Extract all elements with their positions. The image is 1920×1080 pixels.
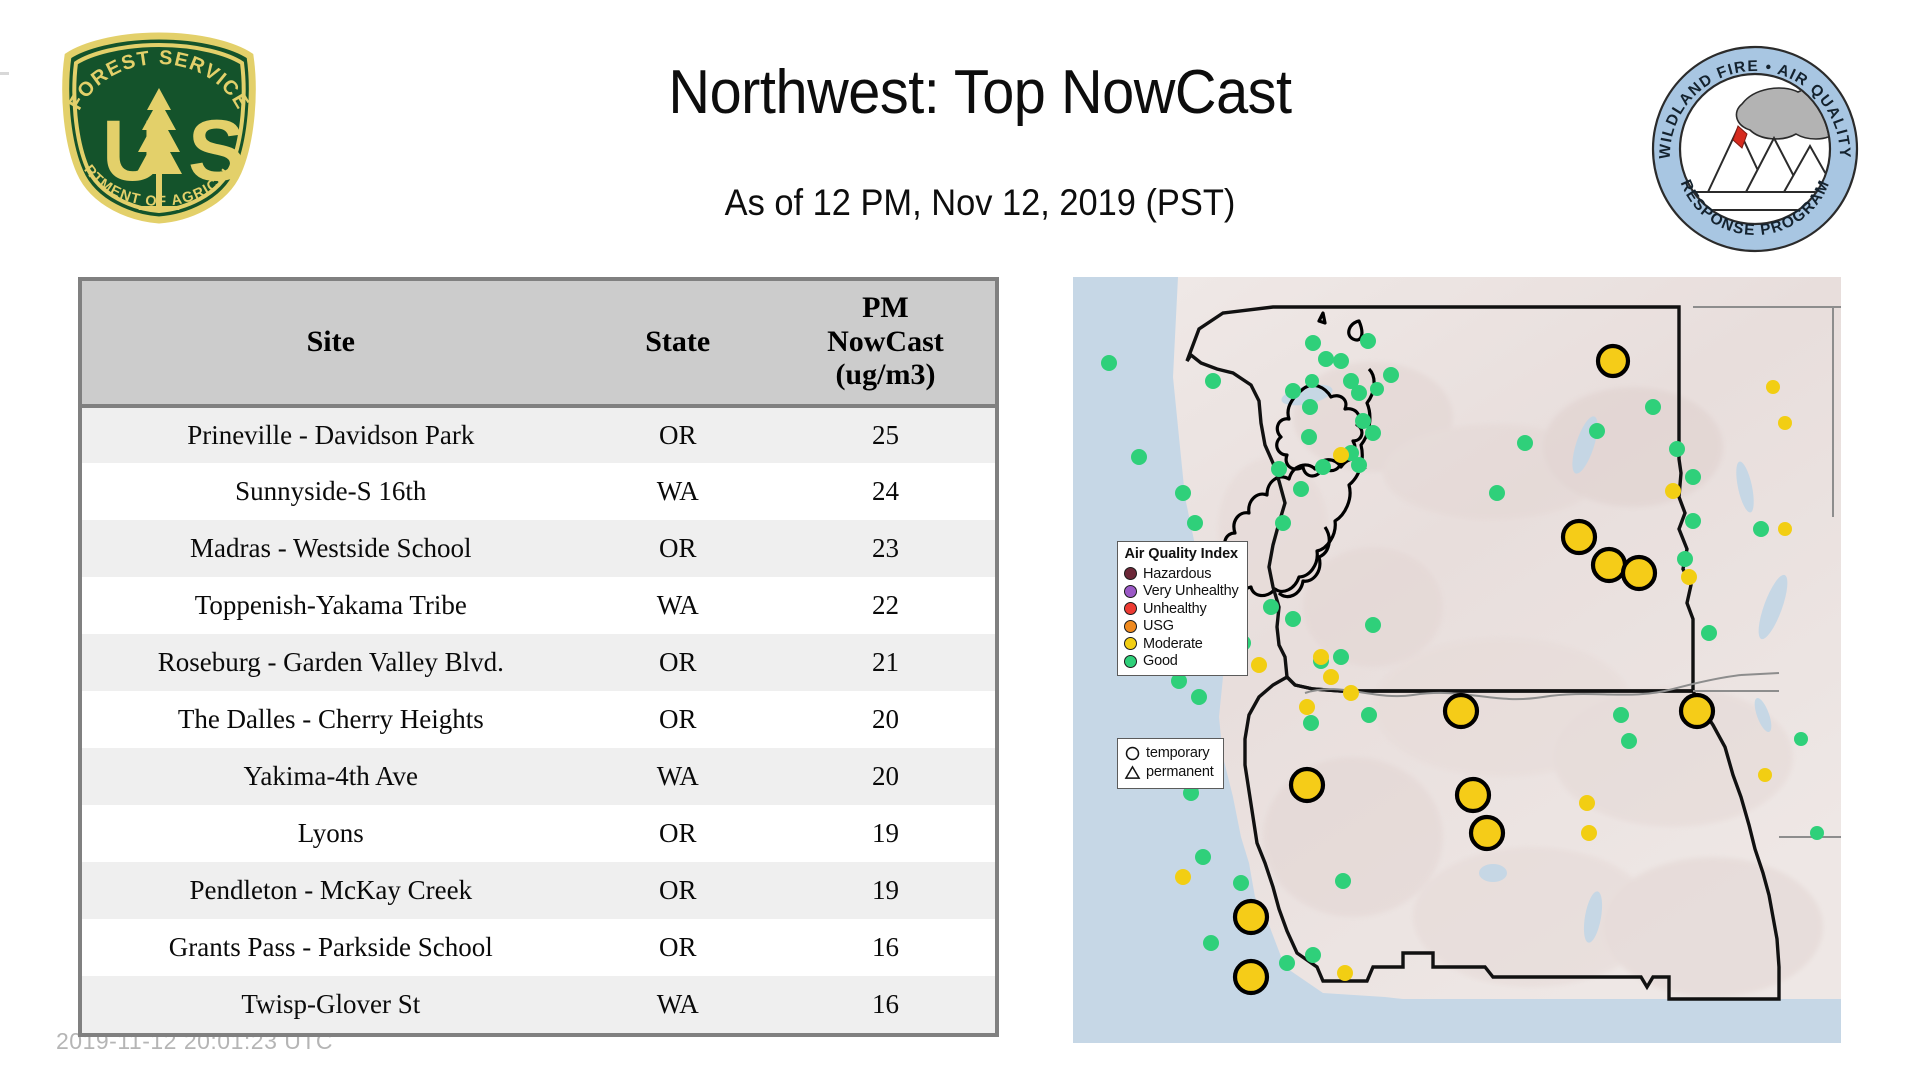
aqi-label-usg: USG <box>1143 619 1174 634</box>
site-marker-prineville <box>1471 817 1503 849</box>
cell-value: 22 <box>776 577 995 634</box>
table-row: Roseburg - Garden Valley Blvd.OR21 <box>82 634 995 691</box>
cell-state: OR <box>580 691 776 748</box>
legend-item-unhealthy: Unhealthy <box>1124 600 1239 618</box>
legend-item-hazardous: Hazardous <box>1124 565 1239 583</box>
page-subtitle: As of 12 PM, Nov 12, 2019 (PST) <box>376 182 1585 224</box>
cell-state: OR <box>580 406 776 463</box>
site-marker-twisp <box>1598 346 1628 376</box>
aqi-label-unhealthy: Unhealthy <box>1143 602 1207 617</box>
aqi-swatch-usg <box>1124 620 1137 633</box>
table-row: Yakima-4th AveWA20 <box>82 748 995 805</box>
site-marker-yakima <box>1563 521 1595 553</box>
table-row: Twisp-Glover StWA16 <box>82 976 995 1033</box>
cell-site: Twisp-Glover St <box>82 976 580 1033</box>
table-header-row: Site State PM NowCast (ug/m3) <box>82 281 995 406</box>
site-marker-lyons <box>1291 769 1323 801</box>
cell-site: Madras - Westside School <box>82 520 580 577</box>
cell-value: 23 <box>776 520 995 577</box>
cell-value: 16 <box>776 976 995 1033</box>
aqi-swatch-moderate <box>1124 637 1137 650</box>
legend-item-very-unhealthy: Very Unhealthy <box>1124 583 1239 601</box>
nowcast-table-body: Prineville - Davidson ParkOR25 Sunnyside… <box>82 406 995 1033</box>
nowcast-table: Site State PM NowCast (ug/m3) Prineville… <box>82 281 995 1033</box>
cell-value: 20 <box>776 748 995 805</box>
slide-edge-tick <box>0 72 9 75</box>
cell-site: Toppenish-Yakama Tribe <box>82 577 580 634</box>
site-marker-grants-pass <box>1235 961 1267 993</box>
aqi-label-moderate: Moderate <box>1143 637 1203 652</box>
usfs-letter-s: S <box>188 103 245 199</box>
aqi-swatch-good <box>1124 655 1137 668</box>
aqi-swatch-hazardous <box>1124 567 1137 580</box>
cell-site: The Dalles - Cherry Heights <box>82 691 580 748</box>
table-row: Madras - Westside SchoolOR23 <box>82 520 995 577</box>
page-title: Northwest: Top NowCast <box>376 60 1585 125</box>
us-forest-service-logo: FOREST SERVICE DEPARTMENT OF AGRICULTURE… <box>52 32 266 224</box>
aqi-swatch-very-unhealthy <box>1124 585 1137 598</box>
table-row: Toppenish-Yakama TribeWA22 <box>82 577 995 634</box>
site-marker-the-dalles <box>1445 695 1477 727</box>
site-marker-toppenish <box>1593 549 1625 581</box>
cell-site: Lyons <box>82 805 580 862</box>
cell-state: WA <box>580 577 776 634</box>
column-header-state: State <box>580 281 776 406</box>
column-header-site: Site <box>82 281 580 406</box>
legend-item-temporary: temporary <box>1124 744 1214 763</box>
site-marker-madras <box>1457 779 1489 811</box>
cell-value: 21 <box>776 634 995 691</box>
slide-canvas: 2019-11-12 20:01:23 UTC FOREST SERVICE D… <box>0 0 1920 1080</box>
table-row: Pendleton - McKay CreekOR19 <box>82 862 995 919</box>
circle-icon <box>1124 746 1141 761</box>
table-row: Prineville - Davidson ParkOR25 <box>82 406 995 463</box>
cell-site: Yakima-4th Ave <box>82 748 580 805</box>
cell-state: OR <box>580 634 776 691</box>
triangle-icon <box>1124 765 1141 780</box>
legend-item-permanent: permanent <box>1124 763 1214 782</box>
cell-state: WA <box>580 976 776 1033</box>
site-marker-sunnyside <box>1623 557 1655 589</box>
cell-state: OR <box>580 862 776 919</box>
cell-state: OR <box>580 520 776 577</box>
cell-state: WA <box>580 748 776 805</box>
aqi-swatch-unhealthy <box>1124 602 1137 615</box>
legend-item-usg: USG <box>1124 618 1239 636</box>
aqi-label-very-unhealthy: Very Unhealthy <box>1143 584 1239 599</box>
cell-site: Roseburg - Garden Valley Blvd. <box>82 634 580 691</box>
site-marker-pendleton <box>1681 695 1713 727</box>
table-row: The Dalles - Cherry HeightsOR20 <box>82 691 995 748</box>
cell-value: 20 <box>776 691 995 748</box>
table-row: LyonsOR19 <box>82 805 995 862</box>
aqi-legend-title: Air Quality Index <box>1124 546 1239 562</box>
legend-item-moderate: Moderate <box>1124 635 1239 653</box>
site-marker-roseburg <box>1235 901 1267 933</box>
cell-value: 25 <box>776 406 995 463</box>
cell-site: Grants Pass - Parkside School <box>82 919 580 976</box>
monitor-type-legend: temporary permanent <box>1117 738 1224 789</box>
cell-site: Prineville - Davidson Park <box>82 406 580 463</box>
legend-item-good: Good <box>1124 653 1239 671</box>
cell-state: WA <box>580 463 776 520</box>
cell-value: 19 <box>776 862 995 919</box>
cell-value: 19 <box>776 805 995 862</box>
cell-state: OR <box>580 919 776 976</box>
cell-value: 24 <box>776 463 995 520</box>
cell-value: 16 <box>776 919 995 976</box>
type-label-permanent: permanent <box>1146 765 1214 780</box>
table-row: Grants Pass - Parkside SchoolOR16 <box>82 919 995 976</box>
cell-site: Pendleton - McKay Creek <box>82 862 580 919</box>
table-row: Sunnyside-S 16thWA24 <box>82 463 995 520</box>
wildland-fire-air-quality-logo: WILDLAND FIRE • AIR QUALITY RESPONSE PRO… <box>1650 44 1860 254</box>
cell-site: Sunnyside-S 16th <box>82 463 580 520</box>
cell-state: OR <box>580 805 776 862</box>
aqi-legend: Air Quality Index Hazardous Very Unhealt… <box>1117 541 1248 676</box>
aqi-label-good: Good <box>1143 654 1178 669</box>
type-label-temporary: temporary <box>1146 746 1209 761</box>
aqi-label-hazardous: Hazardous <box>1143 567 1211 582</box>
nowcast-table-container: Site State PM NowCast (ug/m3) Prineville… <box>78 277 999 1037</box>
column-header-pm-nowcast: PM NowCast (ug/m3) <box>776 281 995 406</box>
